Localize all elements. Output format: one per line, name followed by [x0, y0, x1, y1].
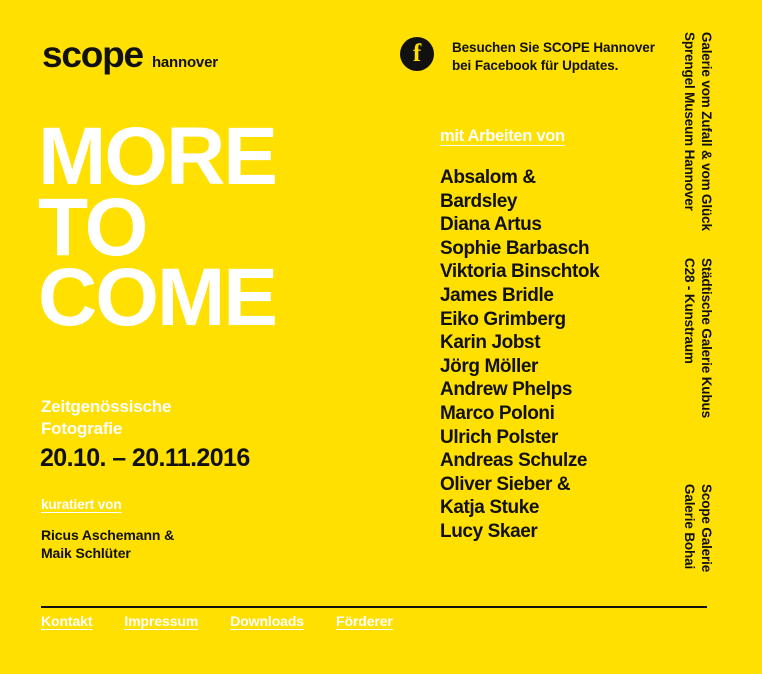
artist-item: Diana Artus — [440, 213, 599, 237]
curator-name-1: Ricus Aschemann & — [41, 527, 174, 545]
artist-item: Andrew Phelps — [440, 378, 599, 402]
logo-city: hannover — [152, 55, 218, 70]
artist-item: Karin Jobst — [440, 331, 599, 355]
artist-item: Oliver Sieber & — [440, 473, 599, 497]
facebook-f-glyph: f — [400, 41, 434, 66]
venue-line-2: Galerie Bohai — [681, 484, 698, 572]
footer-link-foerderer[interactable]: Förderer — [336, 613, 393, 629]
venue-line-2: Sprengel Museum Hannover — [681, 32, 698, 231]
footer-link-impressum[interactable]: Impressum — [124, 613, 198, 629]
artist-item: James Bridle — [440, 284, 599, 308]
venue-line-1: Städtische Galerie Kubus — [697, 258, 714, 418]
poster-page: scope hannover f Besuchen Sie SCOPE Hann… — [0, 0, 762, 674]
artist-item: Absalom & — [440, 166, 599, 190]
facebook-callout[interactable]: f Besuchen Sie SCOPE Hannover bei Facebo… — [400, 37, 655, 75]
curator-label: kuratiert von — [41, 497, 121, 512]
facebook-text-line2: bei Facebook für Updates. — [452, 57, 655, 75]
exhibition-dates: 20.10. – 20.11.2016 — [40, 446, 250, 471]
artist-item: Sophie Barbasch — [440, 237, 599, 261]
subtitle-line-1: Zeitgenössische — [41, 396, 171, 418]
artist-item: Viktoria Binschtok — [440, 260, 599, 284]
venue-column: Galerie vom Zufall & vom Glück Sprengel … — [684, 0, 724, 674]
venue-label: Scope Galerie Galerie Bohai — [681, 484, 714, 572]
venue-line-1: Galerie vom Zufall & vom Glück — [697, 32, 714, 231]
artists-label: mit Arbeiten von — [440, 127, 565, 146]
footer-divider — [41, 606, 707, 608]
venue-label: Galerie vom Zufall & vom Glück Sprengel … — [681, 32, 714, 231]
artist-item: Ulrich Polster — [440, 426, 599, 450]
facebook-icon[interactable]: f — [400, 37, 434, 71]
footer-nav: Kontakt Impressum Downloads Förderer — [41, 613, 393, 629]
curator-name-2: Maik Schlüter — [41, 545, 174, 563]
venue-label: Städtische Galerie Kubus C28 - Kunstraum — [681, 258, 714, 418]
artist-item: Katja Stuke — [440, 496, 599, 520]
artist-item: Marco Poloni — [440, 402, 599, 426]
subtitle-line-2: Fotografie — [41, 418, 171, 440]
artist-item: Eiko Grimberg — [440, 308, 599, 332]
site-logo[interactable]: scope hannover — [42, 36, 218, 73]
headline-line-3: COME — [38, 263, 276, 334]
page-title: MORE TO COME — [38, 122, 276, 334]
venue-line-2: C28 - Kunstraum — [681, 258, 698, 418]
curator-names: Ricus Aschemann & Maik Schlüter — [41, 527, 174, 563]
artists-list: Absalom & Bardsley Diana Artus Sophie Ba… — [440, 166, 599, 544]
logo-wordmark: scope — [42, 36, 143, 73]
footer-link-kontakt[interactable]: Kontakt — [41, 613, 92, 629]
footer-link-downloads[interactable]: Downloads — [230, 613, 304, 629]
subtitle: Zeitgenössische Fotografie — [41, 396, 171, 439]
artist-item: Jörg Möller — [440, 355, 599, 379]
facebook-text-line1: Besuchen Sie SCOPE Hannover — [452, 39, 655, 57]
artist-item: Andreas Schulze — [440, 449, 599, 473]
artist-item: Bardsley — [440, 190, 599, 214]
artist-item: Lucy Skaer — [440, 520, 599, 544]
facebook-text: Besuchen Sie SCOPE Hannover bei Facebook… — [452, 37, 655, 75]
venue-line-1: Scope Galerie — [697, 484, 714, 572]
